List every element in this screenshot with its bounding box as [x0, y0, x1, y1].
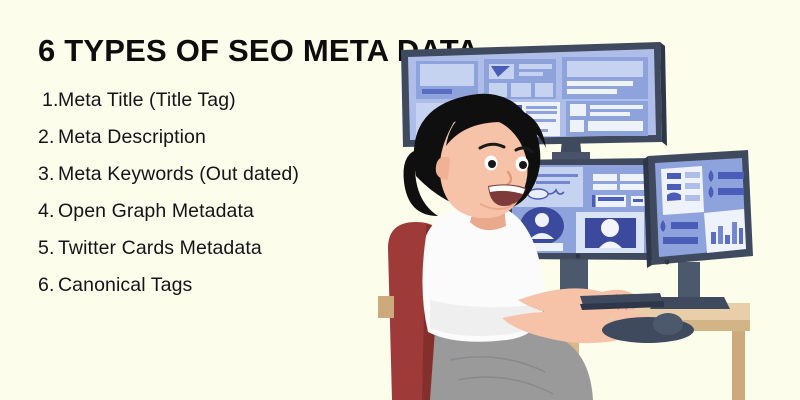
workstation-illustration — [330, 0, 800, 400]
list-item-label: Meta Title (Title Tag) — [58, 89, 236, 112]
list-item-number: 4. — [38, 200, 58, 223]
list-item-number: 3. — [38, 163, 58, 186]
list-item-number: 5. — [38, 237, 58, 260]
list-item-label: Twitter Cards Metadata — [58, 237, 262, 260]
list-item-label: Open Graph Metadata — [58, 200, 254, 223]
list-item-label: Canonical Tags — [58, 274, 192, 297]
list-item-number: 6. — [38, 274, 58, 297]
mouse — [653, 313, 683, 335]
list-item-label: Meta Description — [58, 126, 206, 149]
poster-canvas: 6 TYPES OF SEO META DATA 1. Meta Title (… — [0, 0, 800, 400]
list-item-number: 2. — [38, 126, 58, 149]
list-item-number: 1. — [38, 89, 58, 112]
list-item-label: Meta Keywords (Out dated) — [58, 163, 299, 186]
right-monitor — [643, 150, 753, 309]
webcam-icon — [665, 260, 670, 265]
webcam-icon — [576, 254, 581, 259]
keyboard — [580, 293, 664, 310]
